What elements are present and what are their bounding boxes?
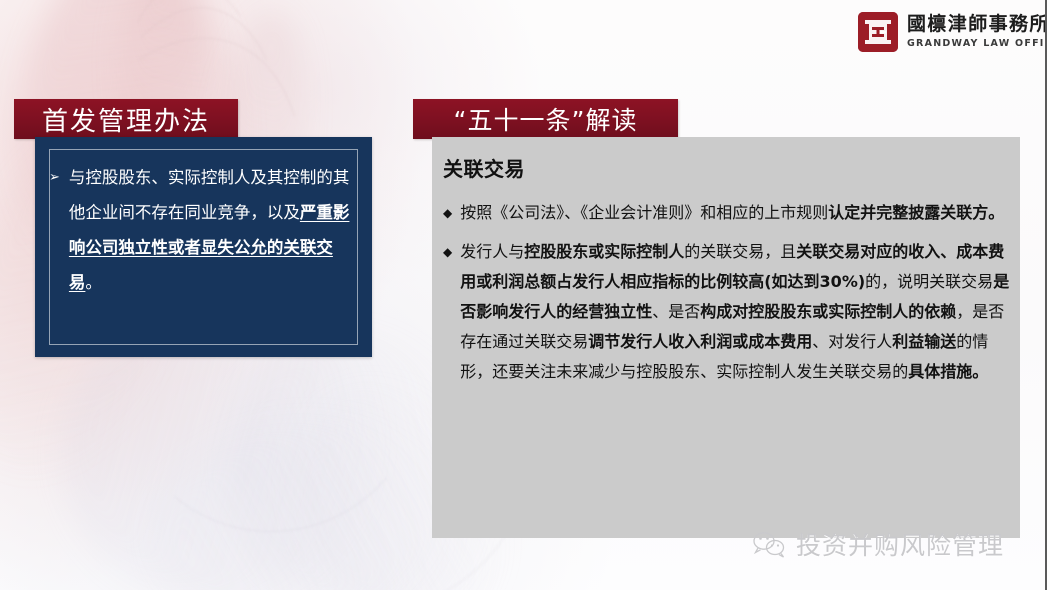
right-bullet-item: ◆发行人与控股股东或实际控制人的关联交易，且关联交易对应的收入、成本费用或利润总… — [443, 237, 1011, 387]
bullet-plain-run: 、是否 — [652, 302, 700, 321]
bullet-emphasis-run: 调节发行人收入利润或成本费用 — [588, 332, 812, 351]
left-section-title: 首发管理办法 — [42, 101, 210, 138]
bullet-plain-run: 按照《公司法》、《企业会计准则》和相应的上市规则 — [460, 203, 828, 222]
bullet-emphasis-run: 构成对控股股东或实际控制人的依赖 — [700, 302, 956, 321]
bullet-plain-run: 、对发行人 — [812, 332, 892, 351]
bullet-emphasis-run: 利益输送 — [892, 332, 956, 351]
right-section-title: “五十一条”解读 — [454, 101, 638, 137]
right-bullet-text: 发行人与控股股东或实际控制人的关联交易，且关联交易对应的收入、成本费用或利润总额… — [460, 237, 1011, 387]
bullet-emphasis-run: 具体措施。 — [908, 362, 988, 381]
bullet-plain-run: 发行人与 — [460, 242, 524, 261]
diamond-bullet-icon: ◆ — [443, 237, 452, 387]
left-section-banner: 首发管理办法 — [14, 99, 238, 139]
grandway-seal-icon — [858, 12, 898, 52]
brand-name-en: GRANDWAY LAW OFFICES — [907, 39, 1047, 49]
right-bullet-item: ◆按照《公司法》、《企业会计准则》和相应的上市规则认定并完整披露关联方。 — [443, 198, 1011, 228]
brand-name-cn: 國檩津師事務所 — [907, 15, 1047, 34]
slide-canvas: 國檩津師事務所 GRANDWAY LAW OFFICES 首发管理办法 ➢ 与控… — [0, 0, 1047, 590]
diamond-bullet-icon: ◆ — [443, 198, 452, 228]
right-section-banner: “五十一条”解读 — [413, 99, 678, 139]
panel-heading: 关联交易 — [443, 153, 525, 182]
bullet-plain-run: 的关联交易，且 — [684, 242, 796, 261]
bullet-plain-run: 的，说明关联交易 — [865, 272, 993, 291]
left-bullet-text: 与控股股东、实际控制人及其控制的其他企业间不存在同业竞争，以及严重影响公司独立性… — [69, 160, 355, 300]
left-bullet-tail: 。 — [85, 273, 102, 292]
brand-logo: 國檩津師事務所 GRANDWAY LAW OFFICES — [858, 12, 1047, 52]
bullet-emphasis-run: 认定并完整披露关联方。 — [828, 203, 1004, 222]
arrow-bullet-icon: ➢ — [49, 160, 60, 300]
right-bullet-text: 按照《公司法》、《企业会计准则》和相应的上市规则认定并完整披露关联方。 — [460, 198, 1011, 228]
bullet-emphasis-run: 控股股东或实际控制人 — [524, 242, 684, 261]
left-bullet-item: ➢ 与控股股东、实际控制人及其控制的其他企业间不存在同业竞争，以及严重影响公司独… — [49, 160, 355, 300]
right-bullet-list: ◆按照《公司法》、《企业会计准则》和相应的上市规则认定并完整披露关联方。◆发行人… — [443, 198, 1011, 396]
